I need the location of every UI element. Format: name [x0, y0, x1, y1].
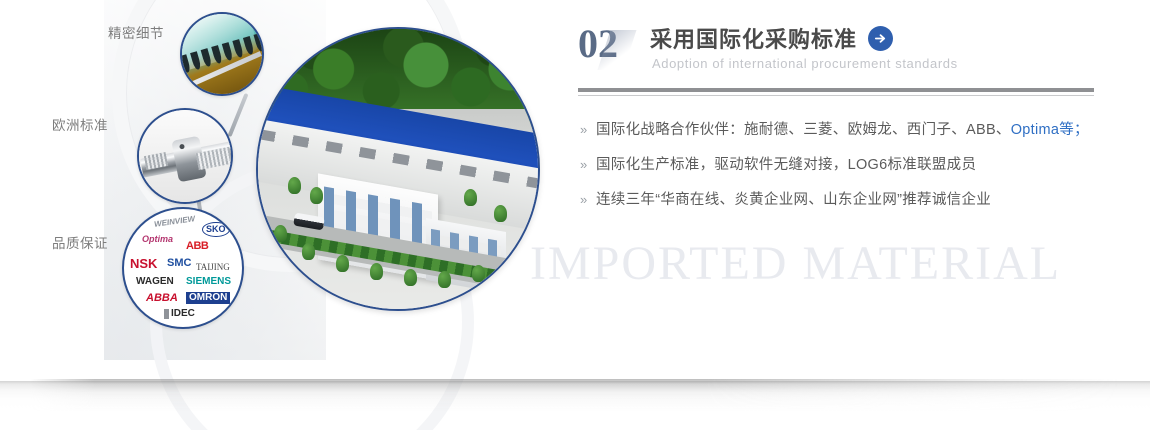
bullet-marker-icon: »	[580, 155, 596, 175]
factory-tree	[438, 271, 451, 288]
list-item-text: 国际化生产标准，驱动软件无缝对接，LOG6标准联盟成员	[596, 155, 976, 175]
section-header: 02 采用国际化采购标准 Adoption of international p…	[578, 24, 1098, 84]
factory-tree	[302, 243, 315, 260]
brand-logo-siemens: SIEMENS	[186, 277, 231, 287]
factory-tree	[370, 263, 383, 280]
brand-logo-abb: ABB	[186, 241, 208, 252]
brand-logo-sko: SKO	[202, 222, 230, 237]
list-item-text: 国际化战略合作伙伴：施耐德、三菱、欧姆龙、西门子、ABB、Optima等；	[596, 120, 1089, 140]
factory-tree	[494, 205, 507, 222]
header-divider	[578, 88, 1094, 96]
list-item-text-highlight: Optima等；	[1011, 122, 1089, 138]
label-quality-guarantee: 品质保证	[52, 232, 108, 252]
brand-logo-omron: OMRON	[186, 292, 230, 304]
divider-thick-line	[578, 88, 1094, 92]
brand-logo-abba: ABBA	[146, 293, 178, 304]
factory-tree	[288, 177, 301, 194]
page-title: 采用国际化采购标准	[650, 22, 857, 54]
factory-tree	[404, 269, 417, 286]
bullet-marker-icon: »	[580, 120, 596, 140]
title-row: 采用国际化采购标准	[650, 22, 893, 54]
factory-tree	[310, 187, 323, 204]
list-item: » 连续三年“华商在线、炎黄企业网、山东企业网”推荐诚信企业	[580, 190, 1096, 210]
bullet-marker-icon: »	[580, 190, 596, 210]
list-item: » 国际化战略合作伙伴：施耐德、三菱、欧姆龙、西门子、ABB、Optima等；	[580, 120, 1096, 140]
brand-logo-wagen: WAGEN	[136, 277, 174, 287]
factory-photo	[256, 27, 540, 311]
list-item-text-prefix: 国际化战略合作伙伴：施耐德、三菱、欧姆龙、西门子、ABB、	[596, 122, 1011, 138]
factory-tree	[336, 255, 349, 272]
quality-guarantee-logos: WEINVIEW SKO Optima ABB NSK SMC TAIJING …	[122, 207, 244, 329]
brand-logo-nsk: NSK	[130, 257, 157, 270]
content-column: 02 采用国际化采购标准 Adoption of international p…	[578, 24, 1098, 84]
brand-logo-grid: WEINVIEW SKO Optima ABB NSK SMC TAIJING …	[124, 209, 242, 327]
bottom-shadow-band-accent	[30, 379, 1120, 415]
brand-logo-idec: IDEC	[164, 309, 195, 319]
factory-tree	[472, 265, 485, 282]
bottom-shadow-band	[0, 381, 1150, 411]
section-number: 02	[578, 24, 618, 64]
label-european-standard: 欧洲标准	[52, 114, 108, 134]
promo-banner: 精密细节 欧洲标准 品质保证 WEINVIEW SKO Optima	[0, 0, 1150, 430]
arrow-right-icon[interactable]	[868, 26, 893, 51]
brand-logo-smc: SMC	[167, 258, 191, 269]
precision-detail-photo	[180, 12, 264, 96]
page-subtitle: Adoption of international procurement st…	[652, 56, 958, 71]
european-standard-photo	[137, 108, 233, 204]
factory-tree	[464, 189, 477, 206]
divider-thin-line	[578, 95, 1094, 96]
brand-logo-optima: Optima	[142, 235, 173, 244]
list-item-text-prefix: 连续三年“华商在线、炎黄企业网、山东企业网”推荐诚信企业	[596, 192, 991, 208]
list-item-text: 连续三年“华商在线、炎黄企业网、山东企业网”推荐诚信企业	[596, 190, 991, 210]
brand-logo-taijing: TAIJING	[196, 263, 230, 272]
list-item-text-prefix: 国际化生产标准，驱动软件无缝对接，LOG6标准联盟成员	[596, 157, 976, 173]
list-item: » 国际化生产标准，驱动软件无缝对接，LOG6标准联盟成员	[580, 155, 1096, 175]
factory-tree	[274, 225, 287, 242]
brand-logo-weinview: WEINVIEW	[154, 215, 196, 229]
label-precision-detail: 精密细节	[108, 22, 164, 42]
watermark-text: IMPORTED MATERIAL	[530, 236, 1061, 291]
bullet-list: » 国际化战略合作伙伴：施耐德、三菱、欧姆龙、西门子、ABB、Optima等； …	[580, 120, 1096, 225]
